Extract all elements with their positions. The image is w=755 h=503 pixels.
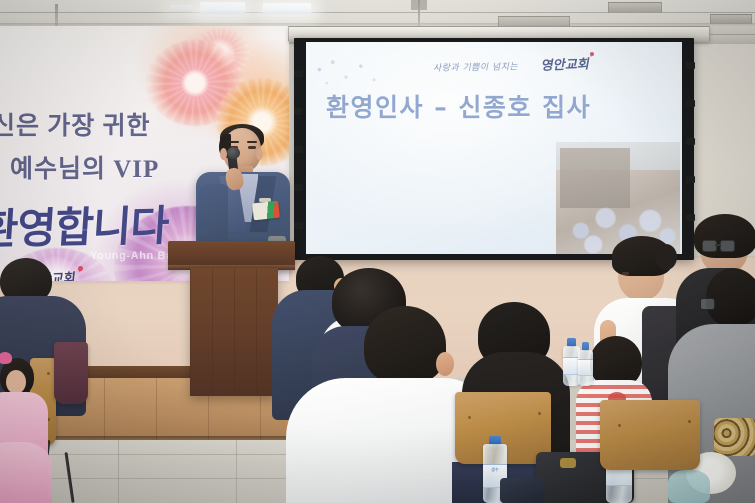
ceiling-light-icon (263, 3, 311, 14)
name-badge (252, 201, 280, 221)
slide-confetti-decoration (312, 56, 386, 90)
speaker-ear (220, 148, 227, 160)
slide-photo (556, 142, 680, 254)
slide-church-logo: 영안교회 (540, 53, 592, 74)
water-bottle (578, 342, 593, 386)
ceiling-vent (608, 2, 662, 13)
slide-title: 환영인사 – 신종호 집사 (326, 88, 591, 124)
phone (500, 478, 544, 503)
dress-skirt (0, 442, 52, 503)
banner-line-1: 신은 가장 귀한 (0, 106, 232, 142)
banner-headline: 환영합니다 (0, 192, 170, 257)
speaker-eyebrow (229, 141, 239, 143)
ceiling-light-icon (200, 2, 245, 14)
hair-bow-icon (0, 352, 12, 364)
photo-scene: 신은 가장 귀한 예수님의 VIP 환영합니다 Young-Ahn Baptis… (0, 0, 755, 503)
leopard-print-bag (714, 418, 755, 456)
bottle-label (578, 359, 593, 376)
teal-fabric (668, 470, 710, 503)
ceiling-light-icon (170, 5, 192, 12)
bag-buckle (560, 458, 576, 468)
eye (622, 272, 629, 275)
hair-bun (655, 244, 677, 270)
microphone-head-icon (227, 147, 240, 159)
speaker-eye (248, 146, 256, 149)
ear (436, 352, 454, 376)
speaker-ear (256, 148, 263, 160)
projected-slide: 사랑과 기쁨이 넘치는 영안교회 환영인사 – 신종호 집사 (306, 42, 682, 254)
ceiling-vent (710, 14, 752, 24)
podium-body (190, 268, 278, 396)
slide-header-calligraphy: 사랑과 기쁨이 넘치는 (433, 59, 520, 73)
speaker-eyebrow (247, 141, 257, 143)
